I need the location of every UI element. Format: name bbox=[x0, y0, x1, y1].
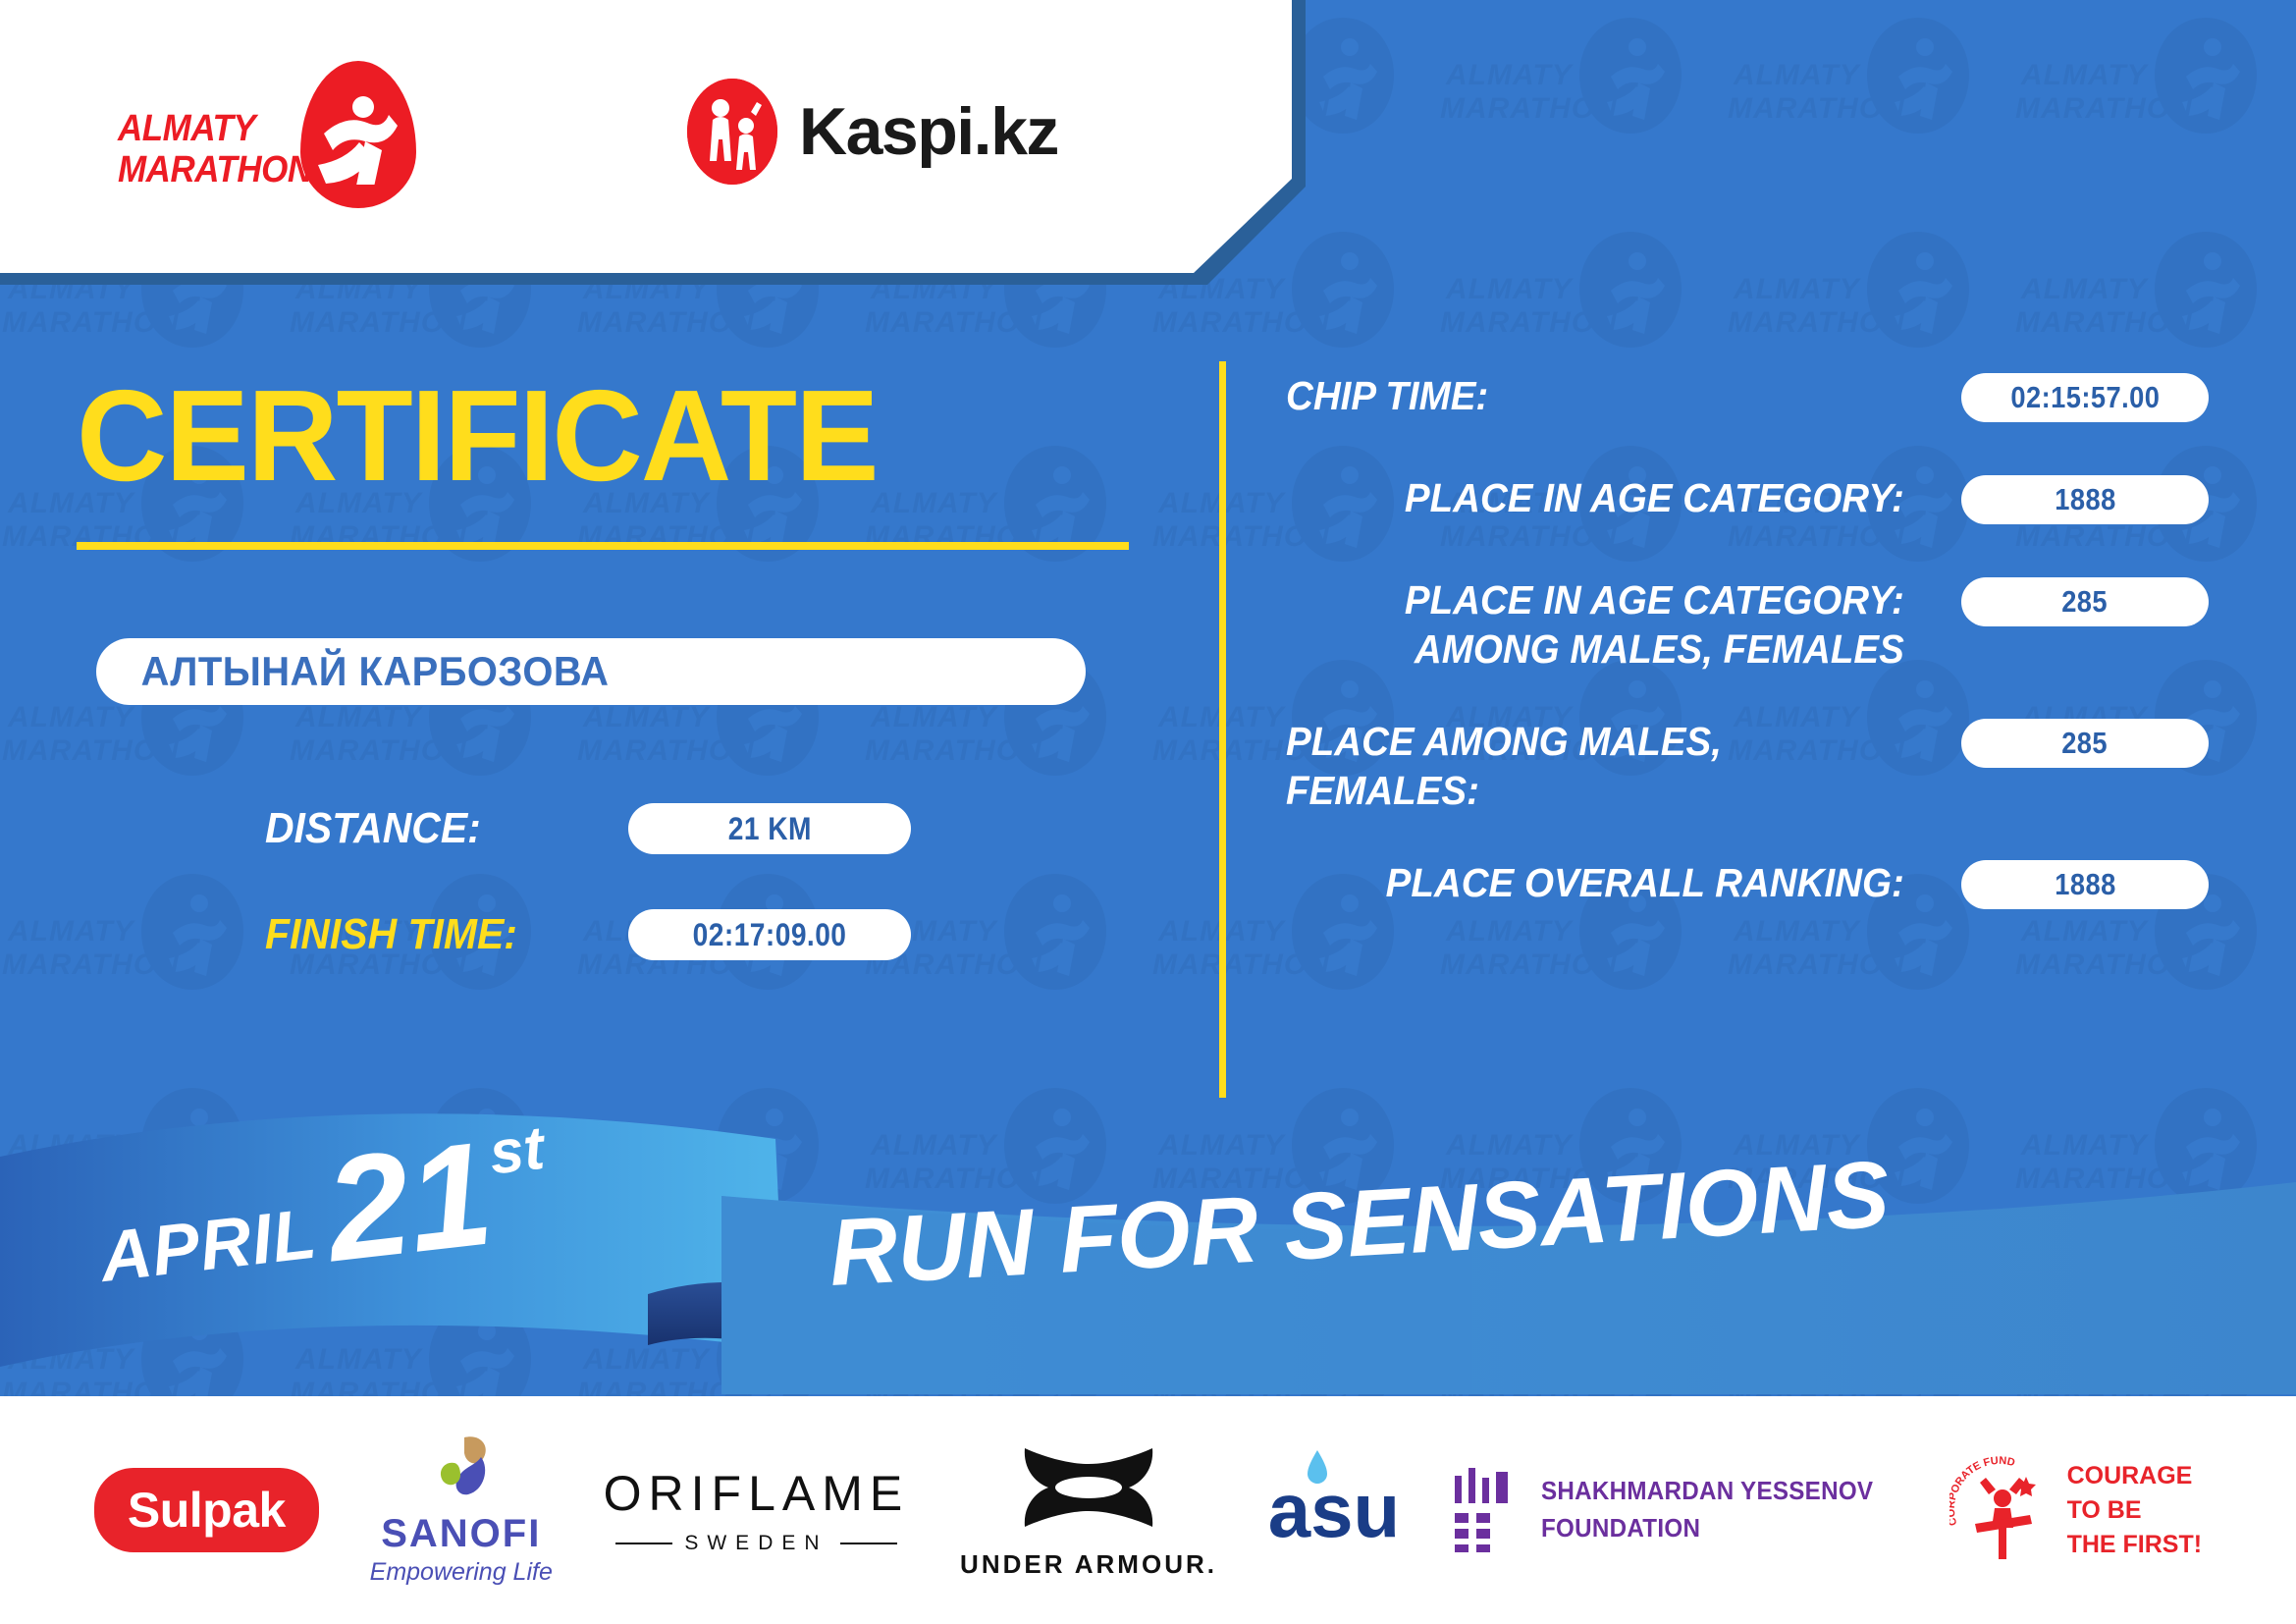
sponsor-sanofi: SANOFI Empowering Life bbox=[370, 1434, 553, 1587]
almaty-marathon-wordmark: ALMATY MARATHON bbox=[118, 108, 307, 190]
finish-time-label: FINISH TIME: bbox=[265, 910, 612, 959]
sponsors-footer: Sulpak SANOFI Empowering Life ORIFLAME S… bbox=[0, 1396, 2296, 1624]
sponsor-oriflame: ORIFLAME SWEDEN bbox=[604, 1465, 910, 1555]
place-among-gender-value: 285 bbox=[2062, 726, 2109, 761]
place-age-category-label: PLACE IN AGE CATEGORY: bbox=[1286, 473, 1921, 522]
under-armour-icon bbox=[1015, 1440, 1162, 1535]
chip-time-value-pill: 02:15:57.00 bbox=[1961, 373, 2209, 422]
sponsor-under-armour: UNDER ARMOUR. bbox=[960, 1440, 1217, 1580]
kaspi-figures-icon bbox=[687, 79, 777, 185]
chip-time-value: 02:15:57.00 bbox=[2010, 380, 2160, 415]
place-among-gender-value-pill: 285 bbox=[1961, 719, 2209, 768]
place-overall-value: 1888 bbox=[2055, 867, 2115, 902]
page-title: CERTIFICATE bbox=[77, 371, 1097, 501]
sanofi-mark-icon bbox=[425, 1434, 498, 1506]
place-among-gender-label: PLACE AMONG MALES, FEMALES: bbox=[1286, 717, 1921, 815]
place-age-category-row: PLACE IN AGE CATEGORY: 1888 bbox=[1286, 473, 2209, 532]
courage-line3: THE FIRST! bbox=[2067, 1528, 2203, 1562]
yessenov-mark-icon bbox=[1451, 1468, 1522, 1552]
title-underline bbox=[77, 542, 1129, 550]
distance-label: DISTANCE: bbox=[265, 804, 612, 853]
distance-row: DISTANCE: 21 KM bbox=[265, 803, 972, 854]
event-day: 21 bbox=[320, 1124, 498, 1277]
yessenov-line2: FOUNDATION bbox=[1541, 1510, 1873, 1547]
oriflame-sub: SWEDEN bbox=[604, 1532, 910, 1555]
courage-fund-icon: CORPORATE FUND bbox=[1949, 1455, 2056, 1565]
sponsor-yessenov: SHAKHMARDAN YESSENOV FOUNDATION bbox=[1451, 1468, 1898, 1552]
asu-wordmark: asu bbox=[1268, 1467, 1400, 1553]
participant-name-value: АЛТЫНАЙ КАРБОЗОВА bbox=[96, 648, 609, 695]
yessenov-line1: SHAKHMARDAN YESSENOV bbox=[1541, 1473, 1873, 1510]
header-content: ALMATY MARATHON Kaspi.kz bbox=[0, 0, 1292, 273]
sponsor-asu: asu bbox=[1268, 1472, 1400, 1548]
place-age-category-gender-value-pill: 285 bbox=[1961, 577, 2209, 626]
vertical-divider bbox=[1219, 361, 1226, 1098]
courage-fund-wordmark: COURAGE TO BE THE FIRST! bbox=[2067, 1459, 2203, 1562]
sanofi-wordmark: SANOFI bbox=[370, 1512, 553, 1556]
participant-name-field: АЛТЫНАЙ КАРБОЗОВА bbox=[96, 638, 1086, 705]
courage-line1: COURAGE bbox=[2067, 1459, 2203, 1493]
sulpak-logo: Sulpak bbox=[94, 1468, 319, 1552]
yessenov-wordmark: SHAKHMARDAN YESSENOV FOUNDATION bbox=[1541, 1473, 1873, 1546]
sponsor-sulpak: Sulpak bbox=[94, 1468, 319, 1552]
certificate-title-block: CERTIFICATE bbox=[77, 371, 1129, 550]
place-age-category-value-pill: 1888 bbox=[1961, 475, 2209, 524]
place-age-category-value: 1888 bbox=[2055, 482, 2115, 517]
distance-value: 21 KM bbox=[727, 811, 811, 847]
distance-value-pill: 21 KM bbox=[628, 803, 911, 854]
place-age-category-gender-value: 285 bbox=[2062, 584, 2109, 620]
results-stats-list: CHIP TIME: 02:15:57.00 PLACE IN AGE CATE… bbox=[1286, 371, 2209, 960]
kaspi-logo: Kaspi.kz bbox=[687, 79, 1058, 185]
runner-icon bbox=[316, 90, 400, 185]
finish-time-value: 02:17:09.00 bbox=[693, 917, 847, 953]
event-month: APRIL bbox=[96, 1194, 321, 1298]
certificate-canvas: ALMATY MARATHON ALMATY MARATHON bbox=[0, 0, 2296, 1624]
almaty-marathon-logo: ALMATY MARATHON bbox=[118, 61, 442, 208]
place-overall-label: PLACE OVERALL RANKING: bbox=[1286, 858, 1921, 907]
place-overall-value-pill: 1888 bbox=[1961, 860, 2209, 909]
event-day-ordinal: st bbox=[486, 1113, 548, 1189]
sanofi-tagline: Empowering Life bbox=[370, 1558, 553, 1587]
chip-time-label: CHIP TIME: bbox=[1286, 371, 1921, 420]
finish-time-value-pill: 02:17:09.00 bbox=[628, 909, 911, 960]
finish-time-row: FINISH TIME: 02:17:09.00 bbox=[265, 909, 972, 960]
place-overall-row: PLACE OVERALL RANKING: 1888 bbox=[1286, 858, 2209, 917]
kaspi-wordmark: Kaspi.kz bbox=[799, 93, 1058, 170]
chip-time-row: CHIP TIME: 02:15:57.00 bbox=[1286, 371, 2209, 430]
oriflame-sub-text: SWEDEN bbox=[684, 1532, 828, 1555]
courage-line2: TO BE bbox=[2067, 1493, 2203, 1528]
place-age-category-gender-label: PLACE IN AGE CATEGORY: AMONG MALES, FEMA… bbox=[1286, 575, 1921, 674]
oriflame-wordmark: ORIFLAME bbox=[604, 1465, 910, 1522]
sponsor-courage-fund: CORPORATE FUND COURAGE TO BE bbox=[1949, 1455, 2203, 1565]
place-age-category-gender-row: PLACE IN AGE CATEGORY: AMONG MALES, FEMA… bbox=[1286, 575, 2209, 674]
place-among-gender-row: PLACE AMONG MALES, FEMALES: 285 bbox=[1286, 717, 2209, 815]
under-armour-wordmark: UNDER ARMOUR. bbox=[960, 1549, 1217, 1580]
left-detail-rows: DISTANCE: 21 KM FINISH TIME: 02:17:09.00 bbox=[265, 803, 972, 1015]
